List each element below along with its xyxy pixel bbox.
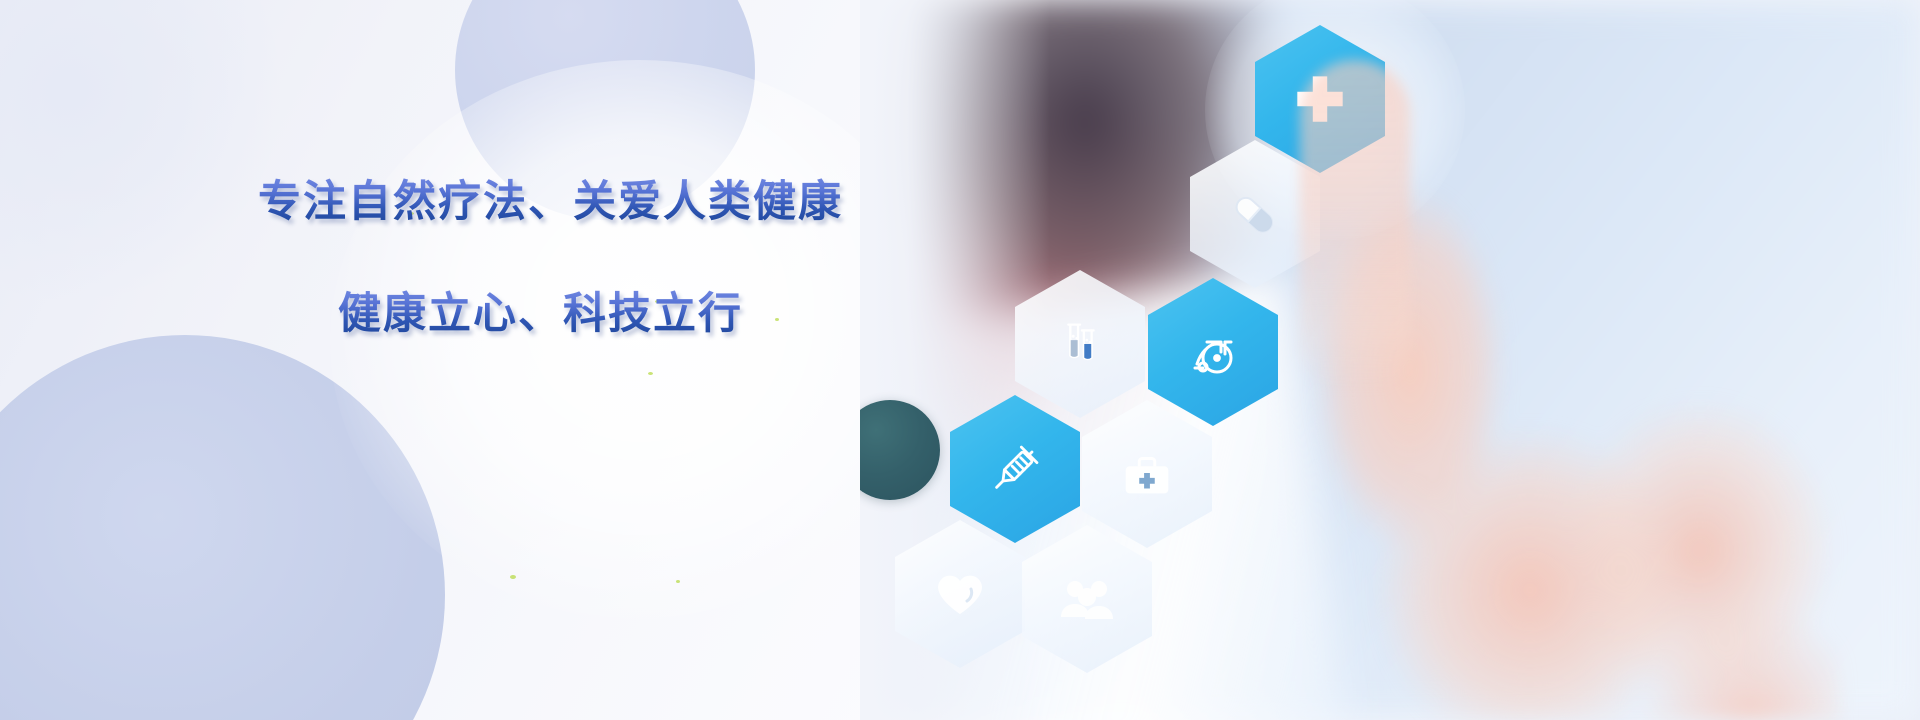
headline-block: 专注自然疗法、关爱人类健康 健康立心、科技立行 [258,178,878,340]
hero-banner: 专注自然疗法、关爱人类健康 健康立心、科技立行 [0,0,1920,720]
decorative-haze-left [0,0,280,300]
accent-speck [676,580,680,583]
accent-speck [510,575,516,579]
headline-line-1: 专注自然疗法、关爱人类健康 [258,178,878,227]
headline-line-2: 健康立心、科技立行 [338,290,878,339]
accent-speck [648,372,653,375]
fingertip-overlay [1300,60,1410,390]
decorative-circle-bottom-left [0,335,445,720]
decorative-haze-center [330,60,950,620]
